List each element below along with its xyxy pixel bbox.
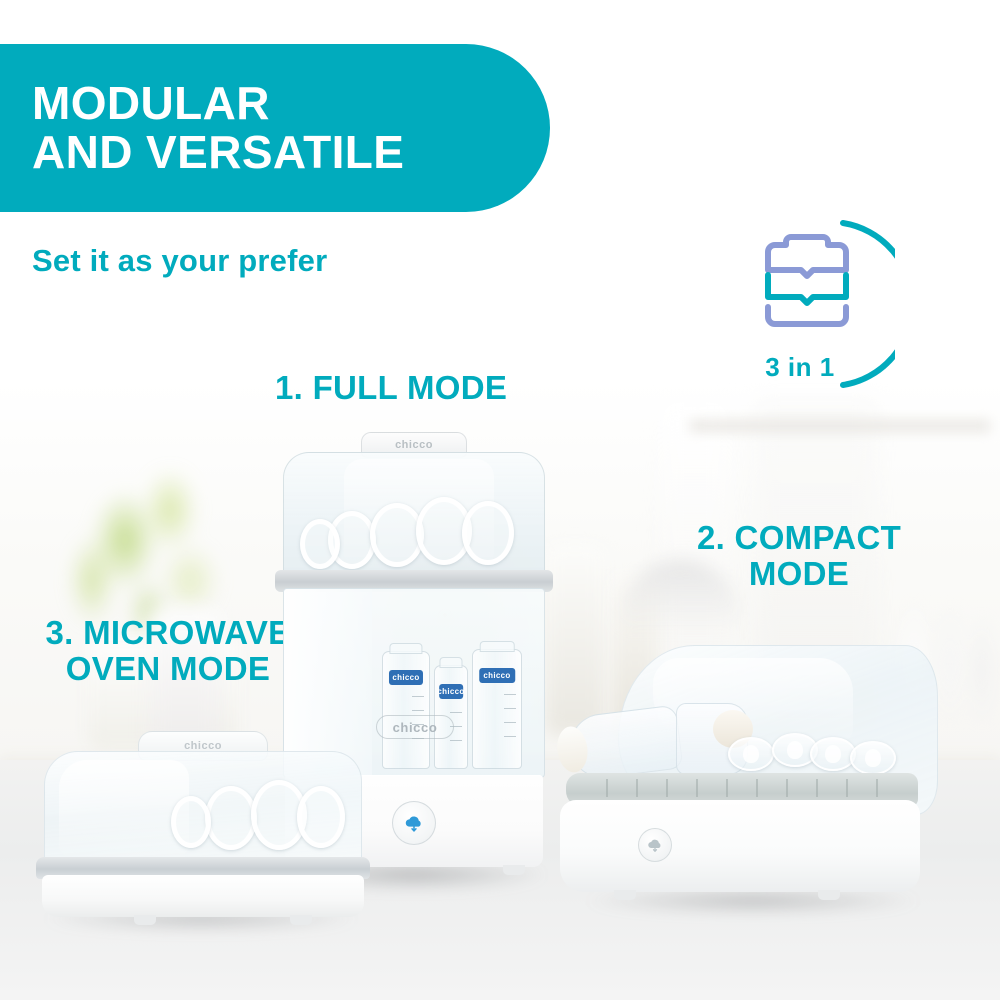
- bottle-ring: [462, 501, 514, 565]
- pacifier: [850, 741, 896, 775]
- bottle-cap: [480, 641, 515, 652]
- bottle-ring: [205, 786, 257, 850]
- product-compact-mode-sterilizer: [558, 645, 948, 910]
- badge-label: 3 in 1: [740, 352, 860, 383]
- bottle-brand-label: chicco: [479, 668, 515, 683]
- bottle-ring: [171, 796, 211, 848]
- background-shelf: [690, 420, 990, 432]
- header-banner: MODULAR AND VERSATILE: [0, 44, 550, 212]
- pacifier: [810, 737, 856, 771]
- appliance-foot: [818, 890, 840, 900]
- clear-dome-lid: [44, 751, 362, 863]
- bottle-cap: [389, 643, 422, 654]
- bottle-brand-label: chicco: [439, 684, 463, 699]
- appliance-foot: [290, 915, 312, 925]
- appliance-base: [560, 800, 920, 892]
- bottle-ring: [297, 786, 345, 848]
- baby-bottle-in-tray: [567, 705, 684, 782]
- appliance-foot: [134, 915, 156, 925]
- bottle-ring: [300, 519, 340, 569]
- appliance-base: [42, 875, 364, 917]
- bottle-cap: [439, 657, 462, 668]
- chamber-brand-logo: chicco: [376, 715, 454, 739]
- page-title: MODULAR AND VERSATILE: [0, 79, 404, 177]
- steam-cloud-icon: [646, 836, 664, 854]
- product-microwave-mode-sterilizer: chicco: [22, 735, 382, 925]
- bottle-teat: [555, 725, 590, 774]
- upper-chamber: [283, 452, 545, 574]
- baby-bottle: chicco: [382, 651, 430, 769]
- subtitle: Set it as your prefer: [32, 243, 327, 279]
- bottle-brand-label: chicco: [389, 670, 423, 685]
- dome-highlight: [59, 760, 189, 856]
- mode-label-full: 1. FULL MODE: [275, 370, 507, 406]
- power-button[interactable]: [392, 801, 436, 845]
- steam-cloud-icon: [403, 812, 425, 834]
- baby-bottle: chicco: [472, 649, 522, 769]
- pacifier: [728, 737, 774, 771]
- appliance-foot: [503, 865, 525, 875]
- stacked-modules-icon: [757, 229, 857, 337]
- mode-label-compact: 2. COMPACT MODE: [668, 520, 930, 591]
- power-button[interactable]: [638, 828, 672, 862]
- appliance-foot: [614, 890, 636, 900]
